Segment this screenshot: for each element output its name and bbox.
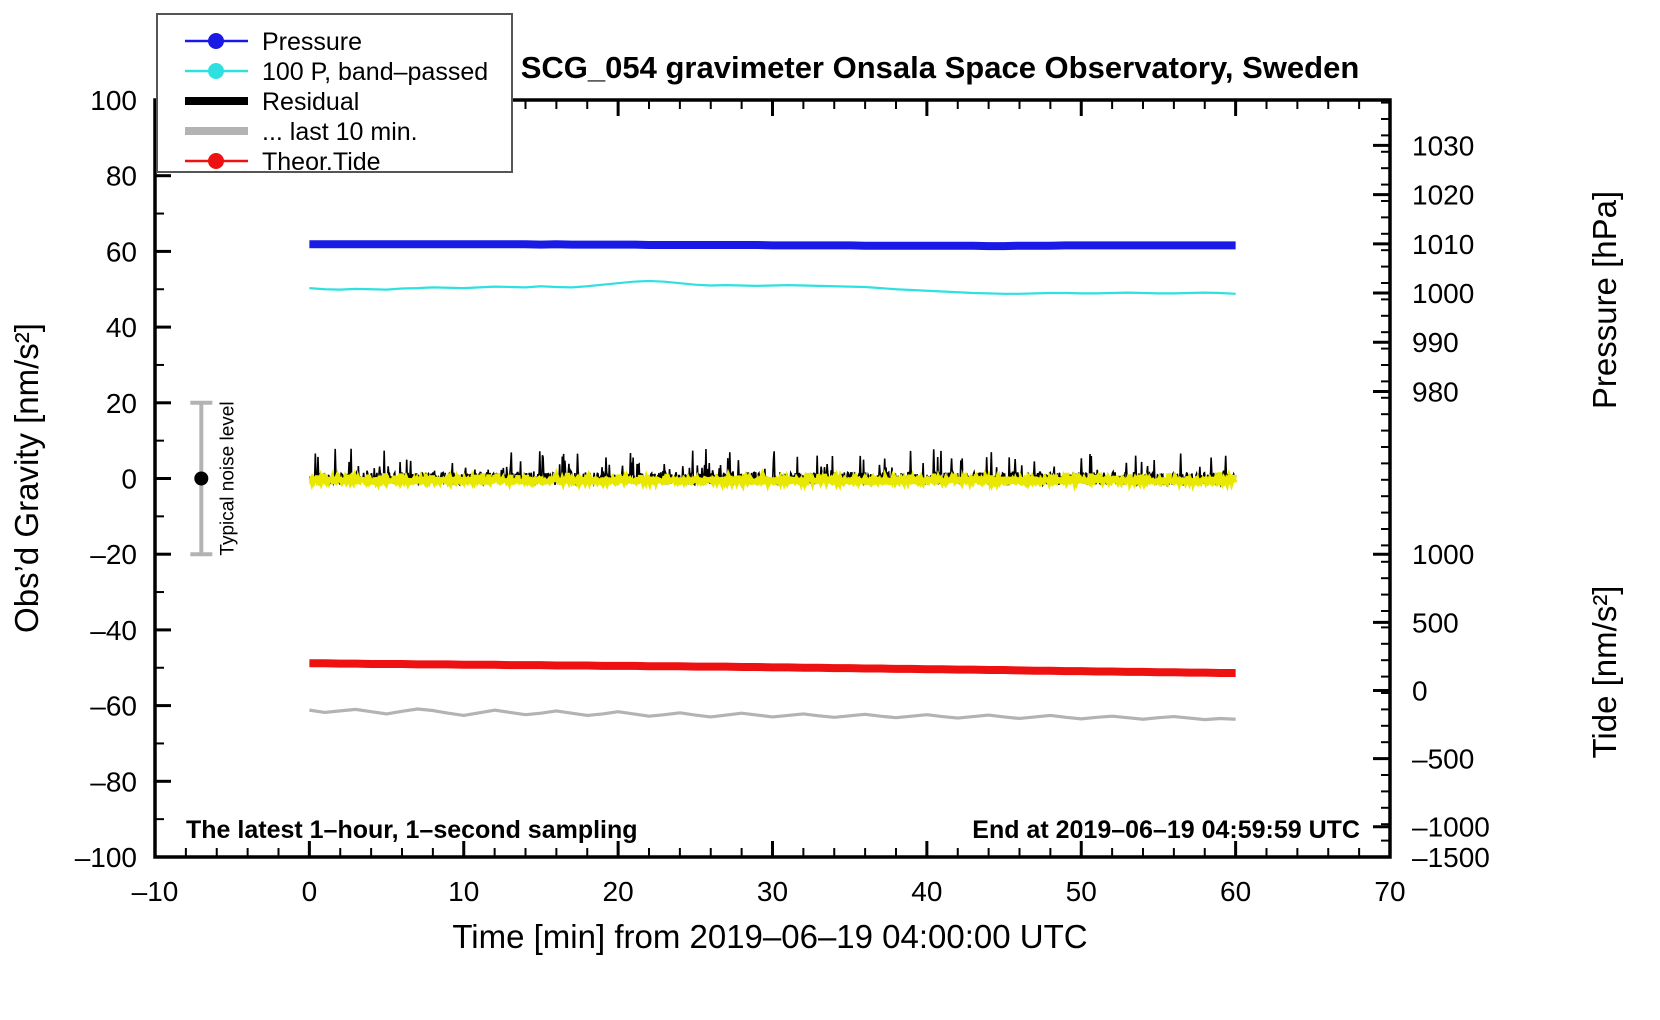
y-tick-label: 40 <box>106 312 137 343</box>
y-tick-label: 80 <box>106 161 137 192</box>
x-tick-label: 70 <box>1374 876 1405 907</box>
tide-axis-title: Tide [nm/s²] <box>1586 586 1623 759</box>
series-pressure <box>309 244 1235 246</box>
x-tick-label: 60 <box>1220 876 1251 907</box>
tide-tick-label: 1000 <box>1412 539 1474 570</box>
legend-dot-marker <box>208 153 224 169</box>
pressure-tick-label: 980 <box>1412 376 1459 407</box>
end-time-note: End at 2019–06–19 04:59:59 UTC <box>972 816 1360 844</box>
x-tick-label: 30 <box>757 876 788 907</box>
series-last-10-min <box>309 709 1235 720</box>
y-axis-ticks <box>155 100 171 857</box>
tide-tick-label: 500 <box>1412 607 1459 638</box>
tide-tick-label: –1000 <box>1412 812 1490 843</box>
gravimeter-chart-figure: –10010203040506070 100806040200–20–40–60… <box>0 0 1660 1020</box>
pressure-tick-label: 1000 <box>1412 278 1474 309</box>
legend-dot-marker <box>208 33 224 49</box>
y-tick-label: 20 <box>106 388 137 419</box>
x-tick-label: 20 <box>603 876 634 907</box>
pressure-tick-label: 1010 <box>1412 229 1474 260</box>
legend-label: ... last 10 min. <box>262 118 418 146</box>
sampling-note: The latest 1–hour, 1–second sampling <box>186 816 638 844</box>
pressure-tick-label: 1020 <box>1412 180 1474 211</box>
legend-label: Pressure <box>262 28 362 56</box>
x-tick-label: 50 <box>1066 876 1097 907</box>
data-traces <box>309 244 1235 719</box>
x-tick-label: 0 <box>302 876 318 907</box>
series-100-p-band-passed <box>309 281 1235 294</box>
y-tick-label: –20 <box>90 539 137 570</box>
pressure-tick-labels: 1030102010101000990980 <box>1412 130 1474 407</box>
x-axis-title: Time [min] from 2019–06–19 04:00:00 UTC <box>452 918 1087 955</box>
tide-axis-ticks <box>1373 554 1390 857</box>
y-tick-label: –100 <box>75 842 137 873</box>
tide-tick-label: –500 <box>1412 744 1474 775</box>
tide-tick-labels: 10005000–500–1000–1500 <box>1412 539 1490 873</box>
noise-level-label: Typical noise level <box>217 401 238 555</box>
y-tick-label: 0 <box>121 464 137 495</box>
x-tick-label: 40 <box>911 876 942 907</box>
typical-noise-level-marker: Typical noise level <box>190 401 238 555</box>
legend: Pressure100 P, band–passedResidual... la… <box>157 14 512 176</box>
pressure-tick-label: 1030 <box>1412 130 1474 161</box>
pressure-axis-title: Pressure [hPa] <box>1586 191 1623 409</box>
legend-label: Theor.Tide <box>262 148 381 176</box>
y-tick-label: 100 <box>90 85 137 116</box>
tide-tick-label: 0 <box>1412 675 1428 706</box>
x-tick-labels: –10010203040506070 <box>132 876 1406 907</box>
pressure-axis-ticks <box>1373 103 1390 857</box>
pressure-tick-label: 990 <box>1412 327 1459 358</box>
x-tick-label: –10 <box>132 876 179 907</box>
y-tick-label: 60 <box>106 236 137 267</box>
y-tick-label: –80 <box>90 766 137 797</box>
y-tick-label: –40 <box>90 615 137 646</box>
legend-label: 100 P, band–passed <box>262 58 488 86</box>
y-axis-title: Obs’d Gravity [nm/s²] <box>8 323 45 633</box>
legend-dot-marker <box>208 63 224 79</box>
series-theor-tide <box>309 663 1235 673</box>
y-tick-label: –60 <box>90 691 137 722</box>
tide-tick-label: –1500 <box>1412 842 1490 873</box>
x-tick-label: 10 <box>448 876 479 907</box>
page-title: SCG_054 gravimeter Onsala Space Observat… <box>521 50 1360 85</box>
y-tick-labels: 100806040200–20–40–60–80–100 <box>75 85 137 873</box>
legend-label: Residual <box>262 88 359 116</box>
chart-canvas: –10010203040506070 100806040200–20–40–60… <box>0 0 1660 1020</box>
